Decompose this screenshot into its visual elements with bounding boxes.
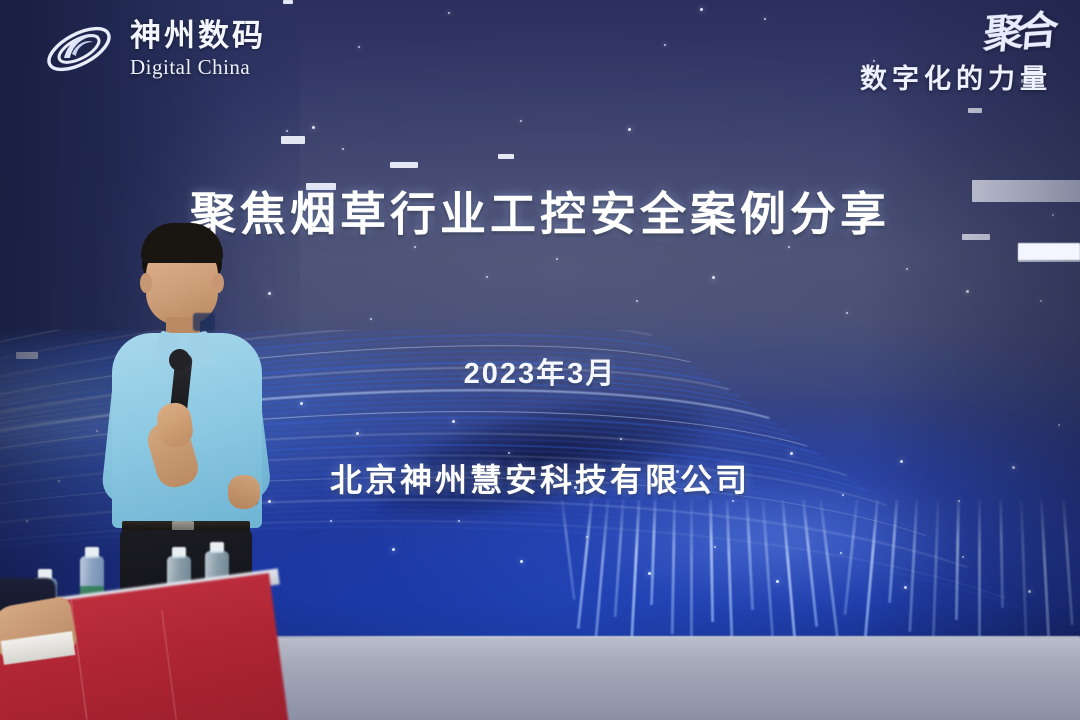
speaker-ear-left <box>140 273 152 293</box>
speaker-hair-top <box>141 223 223 263</box>
logo-name-en: Digital China <box>130 57 266 78</box>
digital-china-logo: 神州数码 Digital China <box>42 18 266 80</box>
event-logo: 聚合 数字化的力量 <box>860 16 1052 96</box>
conference-photo: 神州数码 Digital China 聚合 数字化的力量 聚焦烟草行业工控安全案… <box>0 0 1080 720</box>
logo-name-cn: 神州数码 <box>130 20 266 51</box>
speaker-ear-right <box>212 273 224 293</box>
speaker-hand-right <box>228 475 260 509</box>
digital-china-swirl-icon <box>42 18 116 80</box>
event-logo-calligraphy: 聚合 <box>982 14 1054 53</box>
event-logo-slogan: 数字化的力量 <box>860 57 1052 96</box>
screen-edge-light-bar <box>1018 243 1080 260</box>
company-emblem-icon <box>193 313 215 331</box>
